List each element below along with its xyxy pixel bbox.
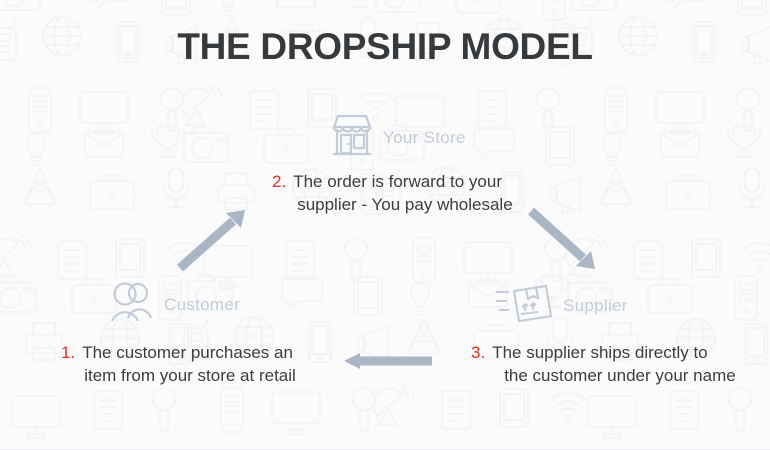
step-2-line-1: The order is forward to your xyxy=(293,172,502,191)
step-1-line-2: item from your store at retail xyxy=(84,364,296,387)
step-3-text: The supplier ships directly to the custo… xyxy=(492,341,736,387)
page-title: THE DROPSHIP MODEL xyxy=(0,28,770,65)
step-3-line-2: the customer under your name xyxy=(504,364,736,387)
step-3-line-1: The supplier ships directly to xyxy=(492,343,707,362)
storefront-icon xyxy=(330,112,374,163)
arrow-supplier-to-customer xyxy=(344,353,432,369)
step-3-number: 3. xyxy=(471,341,485,364)
arrow-customer-to-store xyxy=(180,210,245,268)
step-2: 2. The order is forward to your supplier… xyxy=(272,170,522,216)
node-label-customer: Customer xyxy=(164,295,240,315)
step-3: 3. The supplier ships directly to the cu… xyxy=(471,341,741,387)
step-1-number: 1. xyxy=(61,341,75,364)
node-your-store: Your Store xyxy=(330,112,466,163)
step-1-line-1: The customer purchases an xyxy=(82,343,293,362)
step-2-line-2: supplier - You pay wholesale xyxy=(297,193,512,216)
step-2-number: 2. xyxy=(272,170,286,193)
node-label-your-store: Your Store xyxy=(383,128,466,148)
dropship-model-infographic: THE DROPSHIP MODEL xyxy=(0,0,770,450)
node-supplier: Supplier xyxy=(496,283,628,328)
step-2-text: The order is forward to your supplier - … xyxy=(293,170,512,216)
shipping-box-icon xyxy=(496,283,554,328)
node-label-supplier: Supplier xyxy=(563,296,628,316)
step-1: 1. The customer purchases an item from y… xyxy=(61,341,301,387)
node-customer: Customer xyxy=(110,281,240,328)
people-icon xyxy=(110,281,155,328)
arrow-store-to-supplier xyxy=(531,211,595,269)
step-1-text: The customer purchases an item from your… xyxy=(82,341,296,387)
